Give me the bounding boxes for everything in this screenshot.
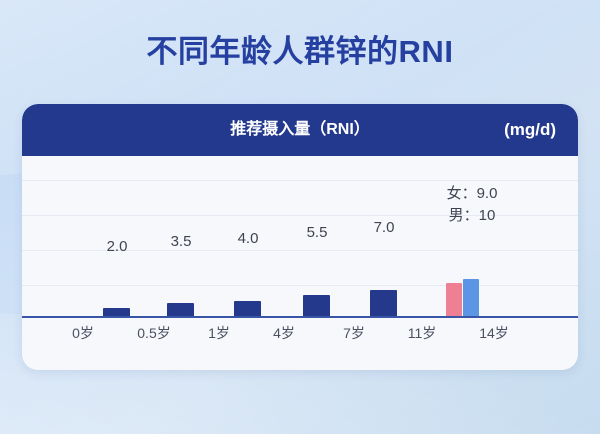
gridline — [22, 285, 578, 286]
annotation-male: 男：10 — [413, 205, 531, 227]
bar-value-5.5: 5.5 — [291, 224, 343, 241]
bar-0.5-1-years — [167, 303, 194, 316]
x-tick-5: 11岁 — [390, 324, 454, 342]
bar-11-14-years-female — [446, 283, 462, 316]
x-tick-6: 14岁 — [462, 324, 526, 342]
chart-card-header: 推荐摄入量（RNI） (mg/d) — [22, 104, 578, 156]
bar-7-11-years — [370, 290, 397, 316]
bar-value-2.0: 2.0 — [91, 238, 143, 255]
bar-value-3.5: 3.5 — [155, 233, 207, 250]
bar-11-14-years-male — [463, 279, 479, 316]
annotation-female: 女：9.0 — [413, 183, 531, 205]
chart-header-title: 推荐摄入量（RNI） — [22, 104, 578, 156]
split-group-annotation: 女：9.0 男：10 — [413, 183, 531, 227]
x-tick-2: 1岁 — [187, 324, 251, 342]
bar-chart-plot: 2.0 3.5 4.0 5.5 7.0 女：9.0 男：10 0岁 0.5岁 1… — [22, 156, 578, 370]
chart-card: 推荐摄入量（RNI） (mg/d) 2.0 3.5 4.0 5.5 7. — [22, 104, 578, 370]
bar-value-4.0: 4.0 — [222, 230, 274, 247]
bar-value-7.0: 7.0 — [358, 219, 410, 236]
bar-1-4-years — [234, 301, 261, 316]
bar-0-6-months — [103, 308, 130, 316]
chart-header-unit: (mg/d) — [504, 104, 556, 156]
x-tick-1: 0.5岁 — [122, 324, 186, 342]
x-tick-4: 7岁 — [322, 324, 386, 342]
x-tick-3: 4岁 — [252, 324, 316, 342]
page-title: 不同年龄人群锌的RNI — [0, 33, 600, 71]
x-tick-0: 0岁 — [51, 324, 115, 342]
x-axis-baseline — [22, 316, 578, 318]
bar-4-7-years — [303, 295, 330, 316]
gridline — [22, 180, 578, 181]
poster-root: 不同年龄人群锌的RNI 推荐摄入量（RNI） (mg/d) 2.0 3.5 — [0, 0, 600, 434]
